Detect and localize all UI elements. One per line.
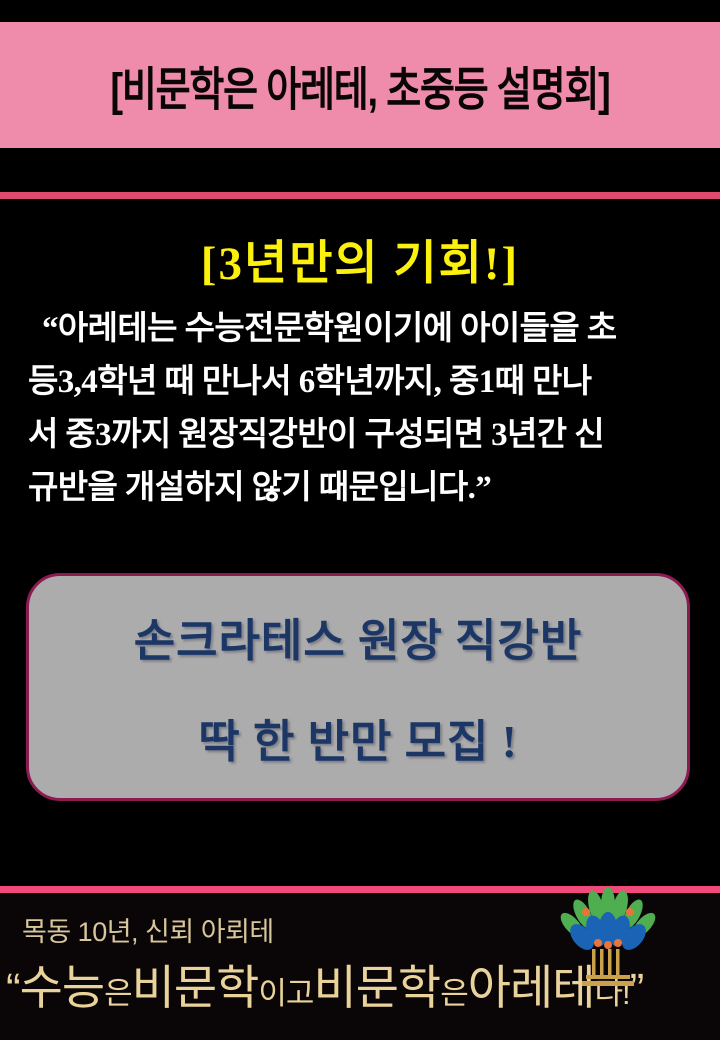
- poster-root: [비문학은 아레테, 초중등 설명회] [3년만의 기회!] “아레테는 수능전…: [0, 0, 720, 1040]
- footer-subtitle: 목동 10년, 신뢰 아뢰테: [22, 910, 274, 949]
- tagline-segment: 은: [440, 968, 468, 1013]
- quote-line: 서 중3까지 원장직강반이 구성되면 3년간 신: [28, 409, 694, 462]
- quote-paragraph: “아레테는 수능전문학원이기에 아이들을 초 등3,4학년 때 만나서 6학년까…: [28, 303, 694, 515]
- tagline-segment: 이고: [258, 968, 313, 1013]
- tagline-segment: 수능: [20, 949, 104, 1018]
- page-title: [비문학은 아레테, 초중등 설명회]: [110, 51, 609, 118]
- footer: 목동 10년, 신뢰 아뢰테 “ 수능 은 비문학 이고 비문학 은 아레테 다…: [0, 893, 720, 1040]
- tagline-segment: 비문학: [313, 949, 440, 1018]
- divider-top: [0, 192, 720, 199]
- quote-line: “아레테는 수능전문학원이기에 아이들을 초: [28, 303, 694, 356]
- headline: [3년만의 기회!]: [0, 224, 720, 293]
- highlight-box-line-1: 손크라테스 원장 직강반: [134, 604, 583, 669]
- tagline-segment: 비문학: [132, 949, 259, 1018]
- header-banner: [비문학은 아레테, 초중등 설명회]: [0, 22, 720, 148]
- tagline-open-quote: “: [6, 965, 20, 1015]
- quote-line: 규반을 개설하지 않기 때문입니다.”: [28, 462, 694, 515]
- highlight-box-line-2: 딱 한 반만 모집 !: [198, 705, 517, 770]
- arete-tree-column-icon: [556, 881, 660, 989]
- highlight-box: 손크라테스 원장 직강반 딱 한 반만 모집 !: [26, 573, 690, 801]
- tagline-segment: 은: [104, 968, 132, 1013]
- quote-line: 등3,4학년 때 만나서 6학년까지, 중1때 만나: [28, 356, 694, 409]
